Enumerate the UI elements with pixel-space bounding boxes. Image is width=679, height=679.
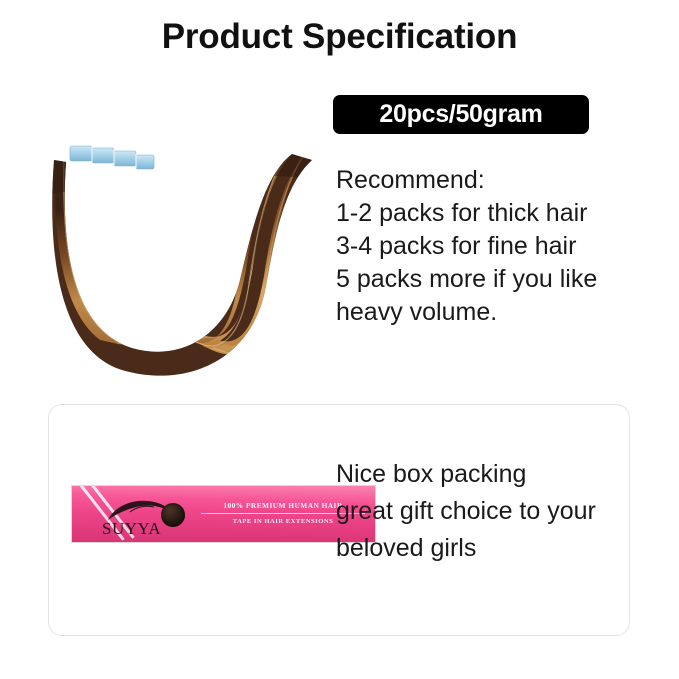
- tape-tab-group: [70, 146, 154, 169]
- recommendation-line: 5 packs more if you like: [336, 263, 656, 296]
- page-title: Product Specification: [0, 17, 679, 57]
- svg-text:SUYYA: SUYYA: [102, 519, 161, 538]
- spec-badge: 20pcs/50gram: [333, 95, 589, 134]
- spec-badge-label: 20pcs/50gram: [379, 102, 542, 127]
- hair-sample-window: [161, 503, 185, 527]
- packaging-description-block: Nice box packing great gift choice to yo…: [336, 456, 636, 567]
- recommendation-line: 3-4 packs for fine hair: [336, 230, 656, 263]
- recommendation-block: Recommend: 1-2 packs for thick hair 3-4 …: [336, 164, 656, 329]
- product-specification-page: Product Specification: [0, 0, 679, 679]
- recommendation-line: Recommend:: [336, 164, 656, 197]
- recommendation-line: 1-2 packs for thick hair: [336, 197, 656, 230]
- packaging-description-line: Nice box packing: [336, 456, 636, 493]
- packaging-description-line: great gift choice to your: [336, 493, 636, 530]
- packaging-description-line: beloved girls: [336, 530, 636, 567]
- hair-extension-image: [40, 140, 340, 380]
- recommendation-line: heavy volume.: [336, 296, 656, 329]
- product-box-image: SUYYA ® 100% PREMIUM HUMAN HAIR TAPE IN …: [71, 485, 376, 543]
